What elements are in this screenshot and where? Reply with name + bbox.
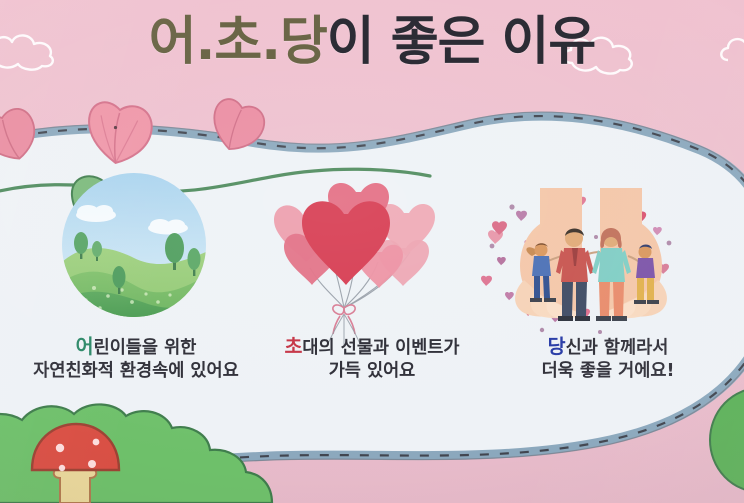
caption-line-2: 자연친화적 환경속에 있어요 [33, 360, 238, 383]
feature-item-events: 초대의 선물과 이벤트가 가득 있어요 [254, 168, 490, 383]
caption-lead-char: 초 [284, 335, 302, 358]
caption-line-2: 가득 있어요 [284, 360, 459, 383]
caption-line-1-rest: 신과 함께라서 [566, 338, 669, 358]
feature-item-together: 당신과 함께라서 더욱 좋을 거에요! [490, 168, 726, 383]
feature-caption: 당신과 함께라서 더욱 좋을 거에요! [542, 334, 675, 383]
feature-item-nature: 어린이들을 위한 자연친화적 환경속에 있어요 [18, 168, 254, 383]
feature-caption: 초대의 선물과 이벤트가 가득 있어요 [284, 334, 459, 383]
green-bush-decoration [710, 388, 744, 492]
caption-line-1: 어린이들을 위한 [33, 334, 238, 360]
caption-lead-char: 당 [548, 335, 566, 358]
title-highlight: 어.초.당 [149, 12, 327, 72]
caption-lead-char: 어 [76, 335, 94, 358]
caption-line-1: 당신과 함께라서 [542, 334, 675, 360]
feature-list: 어린이들을 위한 자연친화적 환경속에 있어요 초대의 선물과 이벤트가 가득 … [0, 168, 744, 383]
poster-title: 어.초.당이 좋은 이유 [0, 16, 744, 68]
caption-line-1-rest: 대의 선물과 이벤트가 [302, 338, 459, 358]
feature-caption: 어린이들을 위한 자연친화적 환경속에 있어요 [33, 334, 238, 383]
caption-line-1: 초대의 선물과 이벤트가 [284, 334, 459, 360]
title-rest: 이 좋은 이유 [327, 12, 595, 72]
caption-line-2: 더욱 좋을 거에요! [542, 360, 675, 383]
poster-canvas: 어.초.당이 좋은 이유 어린이들을 위한 자연친화적 환경속에 있어요 초대의… [0, 0, 744, 503]
caption-line-1-rest: 린이들을 위한 [94, 338, 197, 358]
